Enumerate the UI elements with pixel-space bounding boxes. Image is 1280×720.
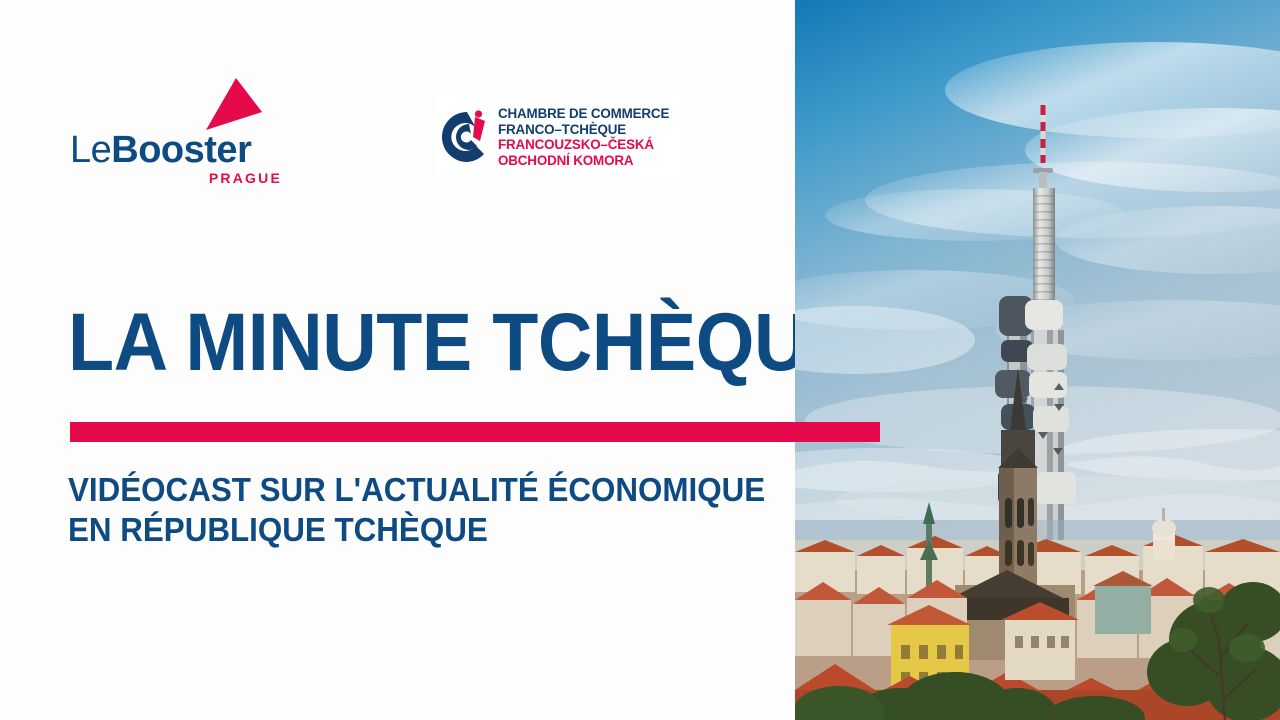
subtitle-line-2: EN RÉPUBLIQUE TCHÈQUE [68,510,765,550]
left-content-panel: LeBooster PRAGUE CHAMBRE DE COMMERCE [0,0,795,720]
prague-skyline-illustration [795,0,1280,720]
lebooster-logo: LeBooster PRAGUE [70,78,285,190]
slide-title: LA MINUTE TCHÈQUE [68,300,858,386]
red-divider-bar [70,422,880,442]
cci-circle-icon [437,108,489,166]
chamber-line-2: FRANCO–TCHÈQUE [498,122,669,138]
chamber-text-block: CHAMBRE DE COMMERCE FRANCO–TCHÈQUE FRANC… [498,106,669,168]
lebooster-booster: Booster [111,129,251,171]
prague-tower-photo [795,0,1280,720]
slide-subtitle: VIDÉOCAST SUR L'ACTUALITÉ ÉCONOMIQUE EN … [68,470,765,550]
subtitle-line-1: VIDÉOCAST SUR L'ACTUALITÉ ÉCONOMIQUE [68,470,765,510]
chamber-line-1: CHAMBRE DE COMMERCE [498,106,669,122]
lebooster-le: Le [70,129,111,171]
logo-row: LeBooster PRAGUE CHAMBRE DE COMMERCE [0,0,795,200]
chamber-line-3: FRANCOUZSKO–ČESKÁ [498,137,669,153]
chamber-line-4: OBCHODNÍ KOMORA [498,153,669,169]
lebooster-wordmark: LeBooster [70,130,285,170]
play-triangle-icon [200,78,262,130]
slide-canvas: LeBooster PRAGUE CHAMBRE DE COMMERCE [0,0,1280,720]
lebooster-city-label: PRAGUE [209,170,282,186]
chamber-of-commerce-logo: CHAMBRE DE COMMERCE FRANCO–TCHÈQUE FRANC… [437,93,687,181]
